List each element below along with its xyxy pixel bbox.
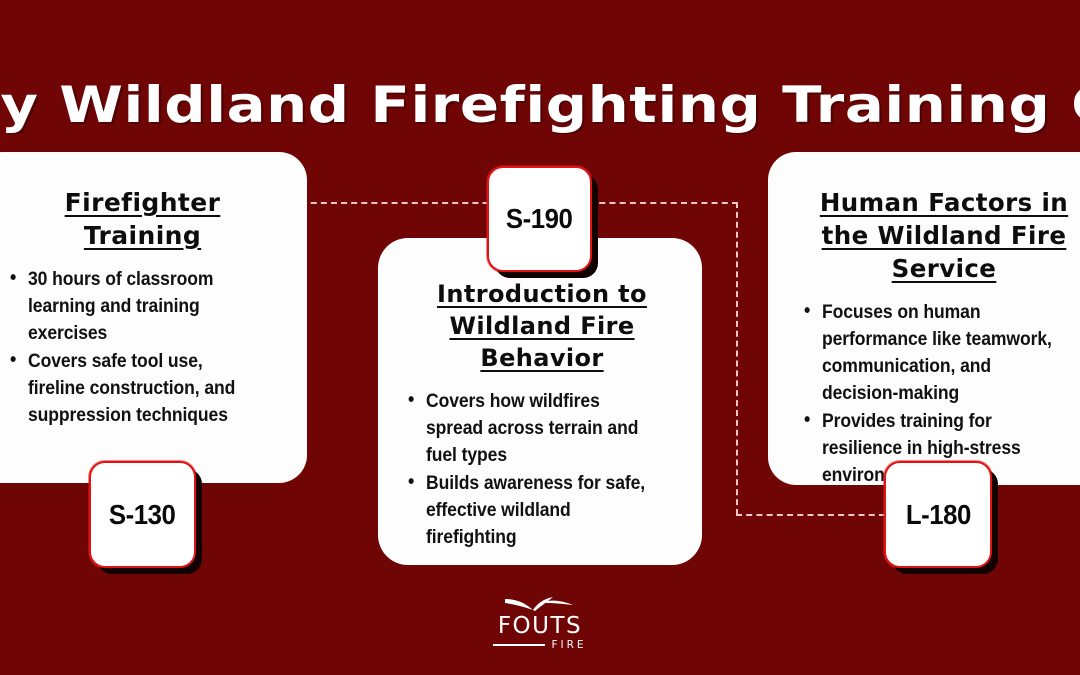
page-title: Key Wildland Firefighting Training Cours… [0,74,1080,136]
list-item: Covers how wildfires spread across terra… [426,388,656,469]
list-item: Covers safe tool use, fireline construct… [28,348,256,429]
connector-right-vertical [736,202,738,515]
course-code-badge-s130[interactable]: S-130 [89,461,196,568]
card-title: Human Factors in the Wildland Fire Servi… [798,186,1080,285]
logo-wordmark: FOUTS [498,614,582,638]
brand-logo: FOUTS FIRE [0,596,1080,651]
course-code-badge-s190[interactable]: S-190 [487,166,592,272]
course-card-firefighter-training[interactable]: Firefighter Training 30 hours of classro… [0,152,307,483]
badge-label: S-190 [506,203,572,235]
course-card-human-factors[interactable]: Human Factors in the Wildland Fire Servi… [768,152,1080,485]
logo-subtext: FIRE [551,639,586,651]
badge-label: S-130 [109,499,175,531]
course-code-badge-l180[interactable]: L-180 [884,461,992,568]
card-bullet-list: Covers how wildfires spread across terra… [402,388,682,551]
list-item: 30 hours of classroom learning and train… [28,266,256,347]
badge-label: L-180 [905,499,970,531]
card-bullet-list: 30 hours of classroom learning and train… [4,266,281,429]
logo-subline: FIRE [493,639,586,651]
list-item: Builds awareness for safe, effective wil… [426,470,656,551]
card-title: Introduction to Wildland Fire Behavior [402,278,682,374]
logo-rule-left [493,644,545,646]
infographic-canvas: Key Wildland Firefighting Training Cours… [0,0,1080,675]
card-title: Firefighter Training [4,186,281,252]
list-item: Focuses on human performance like teamwo… [822,299,1063,407]
course-card-wildland-fire-behavior[interactable]: Introduction to Wildland Fire Behavior C… [378,238,702,565]
